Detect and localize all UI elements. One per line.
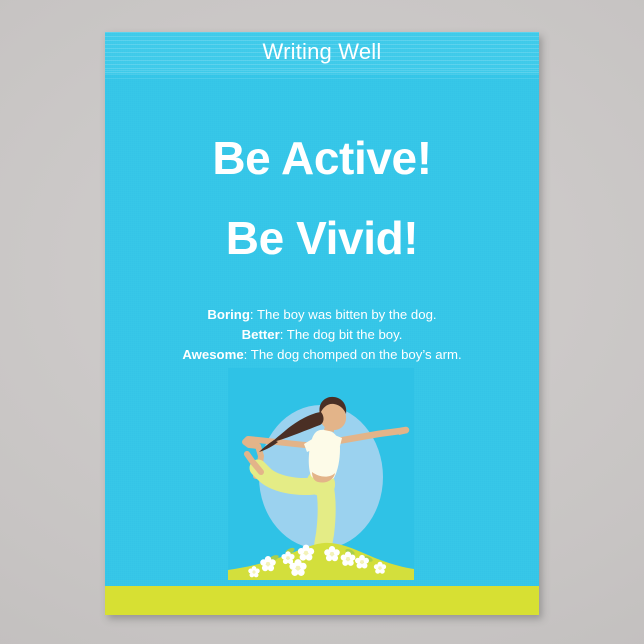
bottom-green-band — [105, 586, 539, 615]
page-title: Writing Well — [105, 38, 539, 66]
example-sentences-list: Boring: The boy was bitten by the dog. B… — [105, 305, 539, 365]
example-text-boring: The boy was bitten by the dog. — [257, 307, 437, 322]
example-label-better: Better — [242, 327, 280, 342]
example-line-awesome: Awesome: The dog chomped on the boy’s ar… — [105, 345, 539, 365]
example-line-boring: Boring: The boy was bitten by the dog. — [105, 305, 539, 325]
headline-be-active: Be Active! — [105, 128, 539, 188]
example-separator-awesome: : — [244, 347, 251, 362]
poster: Writing Well Be Active! Be Vivid! Boring… — [105, 32, 539, 615]
header-stripe-fade — [105, 70, 539, 82]
example-label-boring: Boring — [207, 307, 250, 322]
example-text-awesome: The dog chomped on the boy’s arm. — [251, 347, 462, 362]
yoga-dancer-pose-illustration — [228, 368, 414, 580]
headline-group: Be Active! Be Vivid! — [105, 128, 539, 268]
illustration-panel — [228, 368, 414, 580]
example-text-better: The dog bit the boy. — [287, 327, 403, 342]
example-separator-boring: : — [250, 307, 257, 322]
headline-be-vivid: Be Vivid! — [105, 208, 539, 268]
example-label-awesome: Awesome — [182, 347, 243, 362]
example-line-better: Better: The dog bit the boy. — [105, 325, 539, 345]
example-separator-better: : — [280, 327, 287, 342]
